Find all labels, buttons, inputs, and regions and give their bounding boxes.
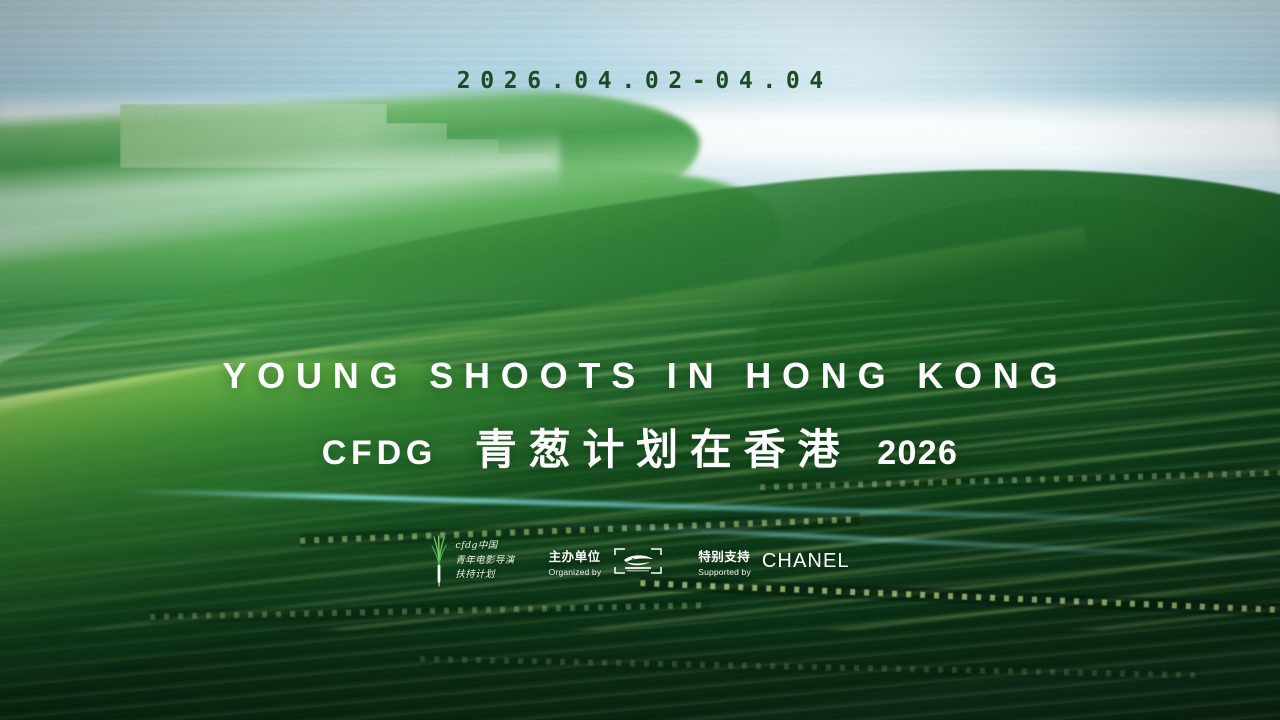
cfdg-program-logo: cfdg中国 青年电影导演 扶持计划 (430, 535, 514, 587)
china-film-directors-guild-logo (612, 546, 664, 576)
title-block: YOUNG SHOOTS IN HONG KONG CFDG 青葱计划在香港 2… (0, 358, 1280, 477)
supporter-label-en: Supported by (698, 567, 751, 577)
supporter-credit: 特别支持 Supported by CHANEL (698, 546, 849, 577)
poster-canvas: 2026.04.02-04.04 YOUNG SHOOTS IN HONG KO… (0, 0, 1280, 720)
title-chinese: 青葱计划在香港 (463, 416, 851, 477)
title-chinese-row: CFDG 青葱计划在香港 2026 (0, 416, 1280, 477)
supporter-label: 特别支持 Supported by (698, 546, 751, 577)
organizer-label-en: Organized by (549, 567, 602, 577)
cfdg-logo-text: cfdg中国 青年电影导演 扶持计划 (455, 539, 514, 583)
title-cfdg: CFDG (322, 434, 437, 473)
sponsor-bar: cfdg中国 青年电影导演 扶持计划 主办单位 Organized by (0, 535, 1280, 587)
scallion-icon (430, 535, 448, 587)
cfdg-logo-line-1: cfdg中国 (455, 539, 514, 554)
organizer-credit: 主办单位 Organized by (549, 546, 665, 577)
title-english: YOUNG SHOOTS IN HONG KONG (0, 358, 1280, 394)
event-dateline: 2026.04.02-04.04 (0, 68, 1280, 94)
organizer-label-cn: 主办单位 (549, 546, 602, 565)
title-year: 2026 (877, 434, 958, 473)
supporter-label-cn: 特别支持 (698, 546, 751, 565)
organizer-label: 主办单位 Organized by (549, 546, 602, 577)
cfdg-logo-line-2: 青年电影导演 (455, 554, 514, 569)
cfdg-logo-line-3: 扶持计划 (455, 568, 514, 583)
chanel-wordmark: CHANEL (762, 550, 850, 573)
